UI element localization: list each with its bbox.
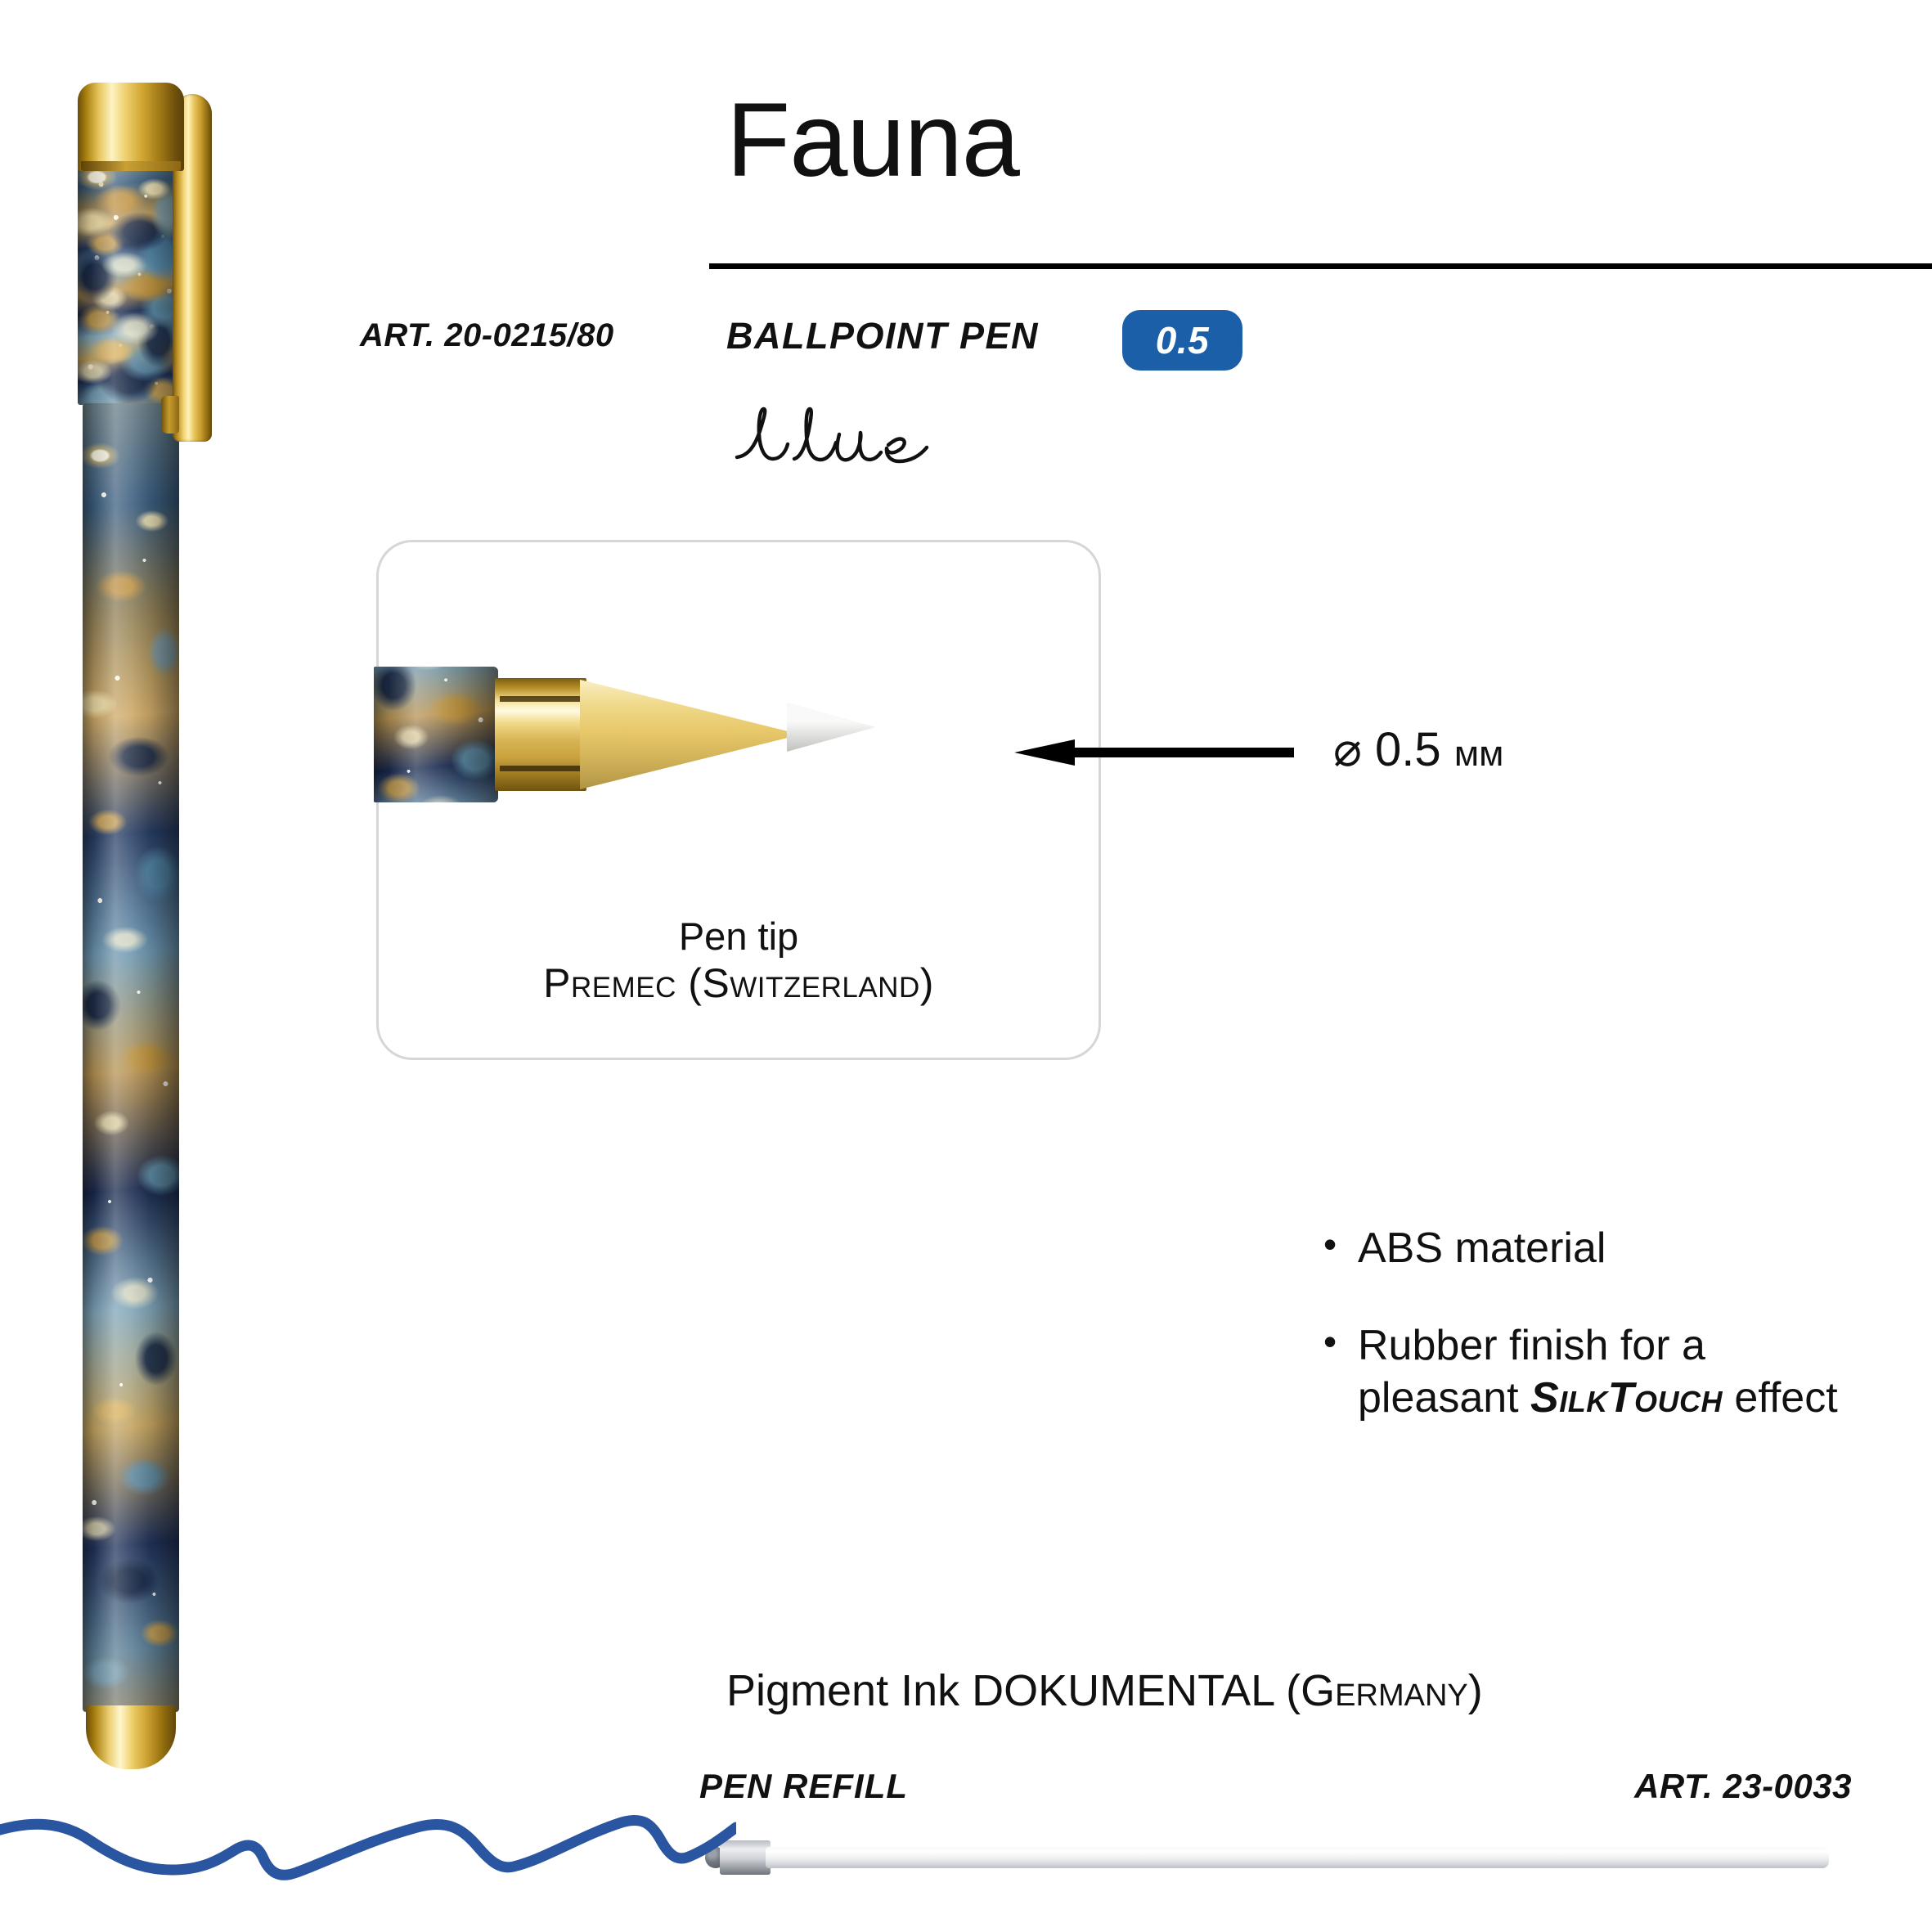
ink-spec-main: Pigment Ink DOKUMENTAL ( — [726, 1666, 1301, 1715]
pen-illustration — [78, 78, 249, 1775]
article-number: ART. 20-0215/80 — [360, 317, 614, 354]
tip-caption-line2: Premec (Switzerland) — [379, 959, 1099, 1007]
diameter-unit: мм — [1454, 734, 1504, 774]
fauna-pattern — [78, 168, 184, 405]
feature-text-suffix: effect — [1723, 1374, 1838, 1422]
pen-cap-patterned-body — [78, 168, 184, 405]
feature-text: ABS material — [1358, 1224, 1606, 1272]
ink-spec-country: Germany — [1301, 1666, 1468, 1715]
ink-spec-end: ) — [1468, 1666, 1483, 1715]
pen-cap-gold-top — [78, 83, 184, 171]
tip-gold-cone — [580, 680, 801, 789]
tip-writing-point — [787, 703, 875, 752]
pen-bottom-gold-cap — [86, 1705, 176, 1769]
feature-list: ABS material Rubber finish for a pleasan… — [1323, 1223, 1847, 1470]
tip-barrel-section — [374, 667, 498, 802]
pen-tip-photo — [374, 660, 963, 807]
diameter-symbol: ⌀ — [1333, 723, 1362, 776]
fauna-pattern — [374, 667, 498, 802]
pen-type-label: BALLPOINT PEN — [726, 315, 1039, 357]
pen-tip-callout-card: Pen tip Premec (Switzerland) — [376, 540, 1101, 1060]
arrow-shape — [1014, 739, 1294, 766]
tip-diameter-label: ⌀ 0.5 мм — [1333, 721, 1503, 777]
header-divider — [709, 263, 1932, 269]
tip-size-badge: 0.5 — [1122, 310, 1242, 371]
blue-script-path — [737, 409, 927, 461]
fauna-pattern — [83, 403, 179, 1712]
pen-barrel — [83, 403, 179, 1712]
ink-color-script — [730, 398, 935, 488]
product-infographic: Fauna ART. 20-0215/80 BALLPOINT PEN 0.5 … — [0, 0, 1932, 1932]
tip-caption: Pen tip Premec (Switzerland) — [379, 914, 1099, 1007]
refill-article-number: ART. 23-0033 — [1634, 1767, 1852, 1806]
silktouch-emphasis: SilkTouch — [1530, 1374, 1723, 1422]
ink-scribble-path — [0, 1820, 736, 1875]
refill-tube — [766, 1847, 1829, 1868]
ink-scribble — [0, 1808, 736, 1930]
ink-spec-line: Pigment Ink DOKUMENTAL (Germany) — [726, 1665, 1483, 1716]
list-item: ABS material — [1323, 1223, 1847, 1274]
tip-gold-collar — [495, 678, 586, 791]
tip-pointer-arrow — [1014, 739, 1294, 766]
refill-label: PEN REFILL — [699, 1767, 908, 1806]
diameter-value: 0.5 — [1375, 723, 1441, 776]
page-title: Fauna — [726, 88, 1019, 193]
list-item: Rubber finish for a pleasant SilkTouch e… — [1323, 1320, 1847, 1424]
tip-caption-line1: Pen tip — [379, 914, 1099, 959]
